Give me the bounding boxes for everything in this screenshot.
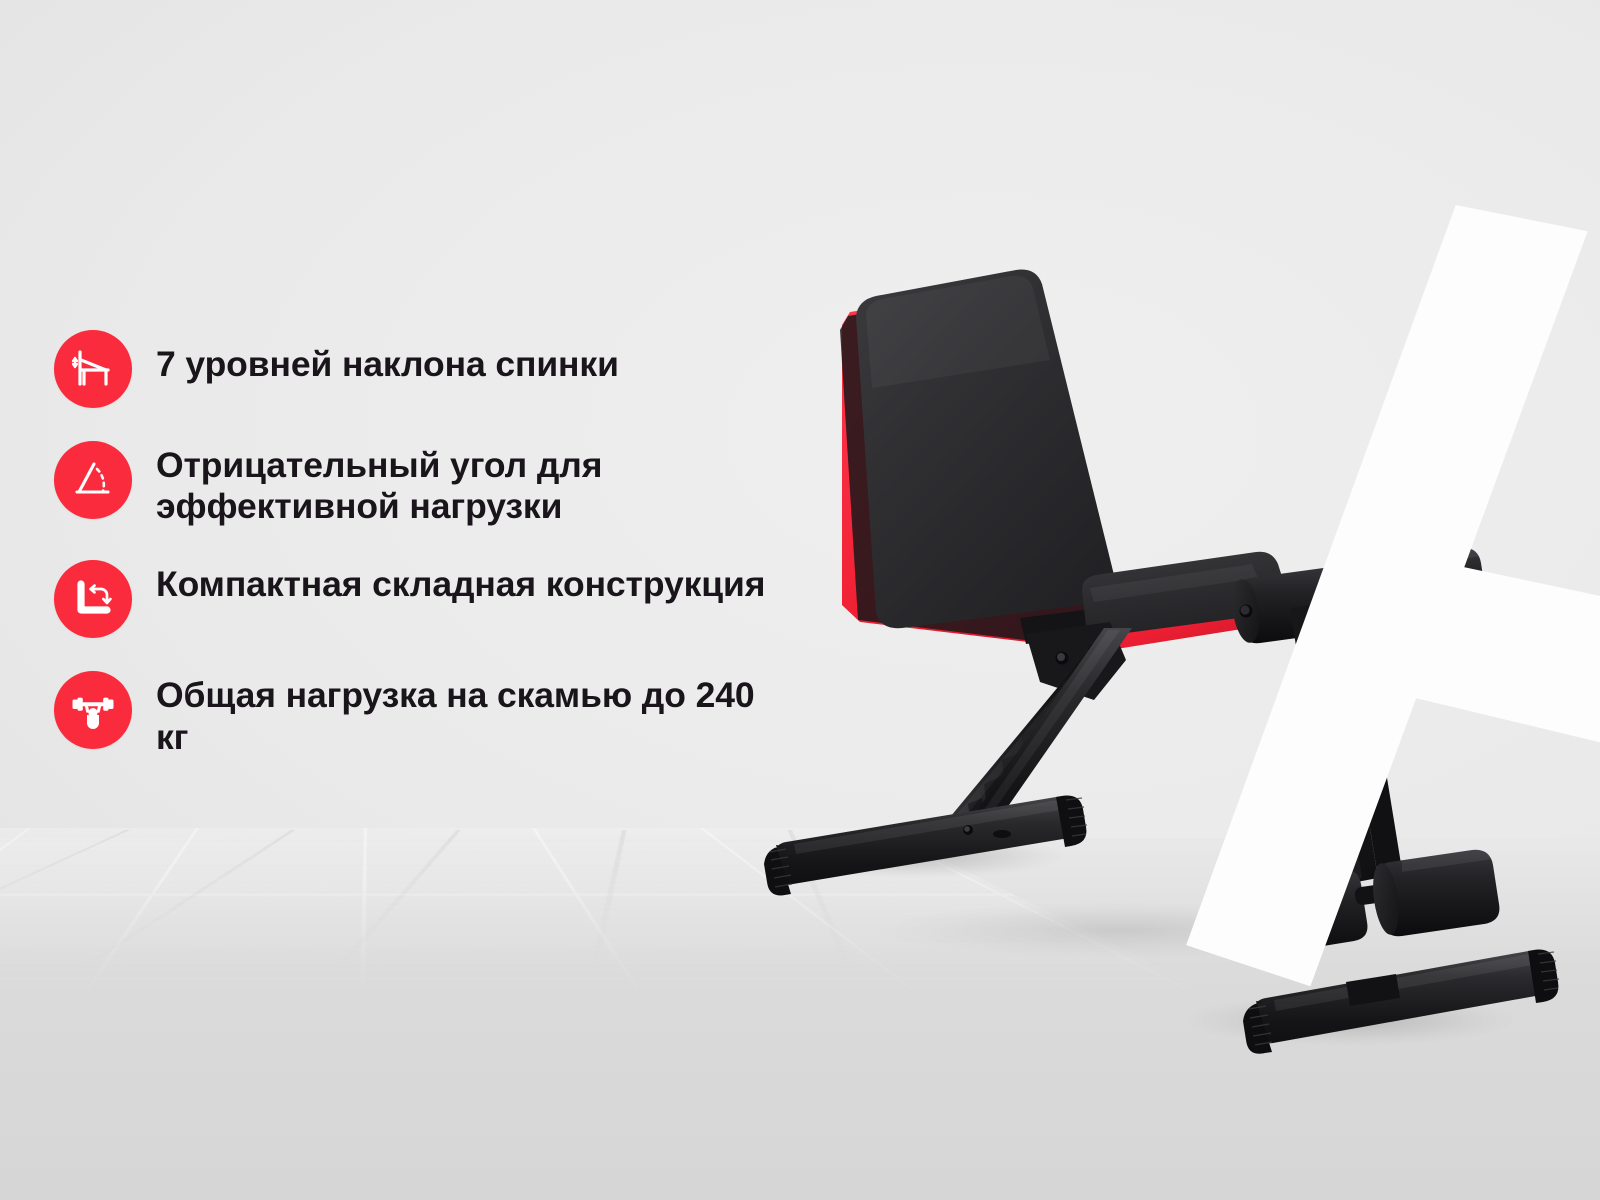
backrest-pad [840, 270, 1120, 650]
feature-icon-badge [54, 560, 132, 638]
feature-label: 7 уровней наклона спинки [156, 330, 619, 385]
feature-item-negative-angle: Отрицательный угол для эффективной нагру… [54, 441, 794, 527]
lower-roller-left [1246, 870, 1367, 956]
feature-item-foldable: Компактная складная конструкция [54, 560, 794, 638]
front-leg-post [1290, 596, 1402, 884]
product-image-bench: UNIX FIT [690, 230, 1590, 1090]
product-feature-card: 7 уровней наклона спинки Отрицательный у… [0, 0, 1600, 1200]
feature-label: Общая нагрузка на скамью до 240 кг [156, 671, 776, 757]
feature-icon-badge [54, 441, 132, 519]
feature-label: Компактная складная конструкция [156, 560, 765, 605]
barbell-lifter-icon [70, 687, 116, 733]
feature-item-incline-levels: 7 уровней наклона спинки [54, 330, 794, 408]
feature-list: 7 уровней наклона спинки Отрицательный у… [54, 330, 794, 758]
feature-icon-badge [54, 330, 132, 408]
feature-label: Отрицательный угол для эффективной нагру… [156, 441, 776, 527]
upper-roller-front [1358, 546, 1487, 628]
bench-incline-adjust-icon [70, 346, 116, 392]
folding-arrow-icon [70, 576, 116, 622]
angle-measure-icon [70, 457, 116, 503]
feature-icon-badge [54, 671, 132, 749]
feature-item-max-load: Общая нагрузка на скамью до 240 кг [54, 671, 794, 757]
